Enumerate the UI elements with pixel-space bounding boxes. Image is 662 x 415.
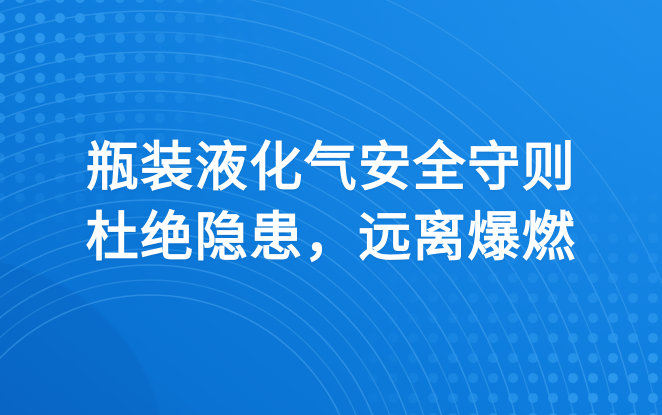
headline-line-2: 杜绝隐患，远离爆燃 — [0, 203, 662, 273]
headline-line-1: 瓶装液化气安全守则 — [0, 133, 662, 203]
banner-headline: 瓶装液化气安全守则 杜绝隐患，远离爆燃 — [0, 133, 662, 273]
safety-banner: 瓶装液化气安全守则 杜绝隐患，远离爆燃 — [0, 0, 662, 415]
